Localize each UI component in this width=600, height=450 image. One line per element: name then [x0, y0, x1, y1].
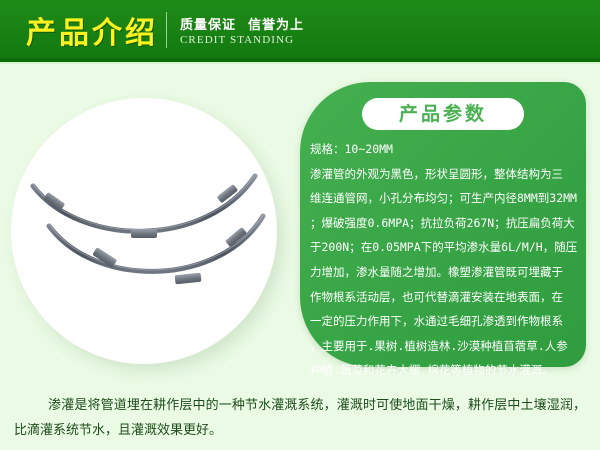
parameter-panel-title-pill: 产品参数	[362, 98, 524, 130]
header-divider	[166, 12, 167, 48]
bottom-caption: 渗灌是将管道埋在耕作层中的一种节水灌溉系统，灌溉时可使地面干燥，耕作层中土壤湿润…	[14, 392, 586, 442]
parameter-line: 于200N；在0.05MPA下的平均渗水量6L/M/H，随压	[310, 235, 590, 260]
product-photo	[11, 98, 277, 364]
header-slogan-chinese: 质量保证信誉为上	[180, 14, 304, 33]
parameter-line: ；爆破强度0.6MPA；抗拉负荷267N；抗压扁负荷大	[310, 211, 590, 236]
parameter-line: 维连通管网，小孔分布均匀；可生产内径8MM到32MM	[310, 186, 590, 211]
parameter-line: 一定的压力作用下，水通过毛细孔渗透到作物根系	[310, 309, 590, 334]
parameter-line: 种植.蔬菜和花卉大棚.棉花等植物的节水灌溉。	[310, 358, 590, 383]
slogan-part-1: 质量保证	[180, 17, 236, 32]
header-hairline	[0, 62, 600, 64]
parameter-panel: 产品参数 规格：10~20MM 渗灌管的外观为黑色，形状呈圆形，整体结构为三 维…	[300, 82, 586, 367]
header-banner: 产品介绍 质量保证信誉为上 CREDIT STANDING	[0, 0, 600, 58]
parameter-line: ，主要用于.果树.植树造林.沙漠种植苜蓿草.人参	[310, 334, 590, 359]
parameter-panel-title: 产品参数	[399, 105, 487, 124]
seepage-pipe-illustration	[11, 98, 277, 364]
parameter-panel-body: 规格：10~20MM 渗灌管的外观为黑色，形状呈圆形，整体结构为三 维连通管网，…	[310, 137, 590, 383]
parameter-line: 作物根系活动层，也可代替滴灌安装在地表面，在	[310, 285, 590, 310]
product-intro-page: 产品介绍 质量保证信誉为上 CREDIT STANDING	[0, 0, 600, 450]
slogan-part-2: 信誉为上	[248, 17, 304, 32]
parameter-line: 渗灌管的外观为黑色，形状呈圆形，整体结构为三	[310, 162, 590, 187]
parameter-line: 规格：10~20MM	[310, 137, 590, 162]
page-title: 产品介绍	[26, 8, 158, 52]
bottom-caption-text: 渗灌是将管道埋在耕作层中的一种节水灌溉系统，灌溉时可使地面干燥，耕作层中土壤湿润…	[14, 397, 586, 437]
header-slogan-english: CREDIT STANDING	[180, 34, 294, 46]
parameter-line: 力增加，渗水量随之增加。橡塑渗灌管既可埋藏于	[310, 260, 590, 285]
